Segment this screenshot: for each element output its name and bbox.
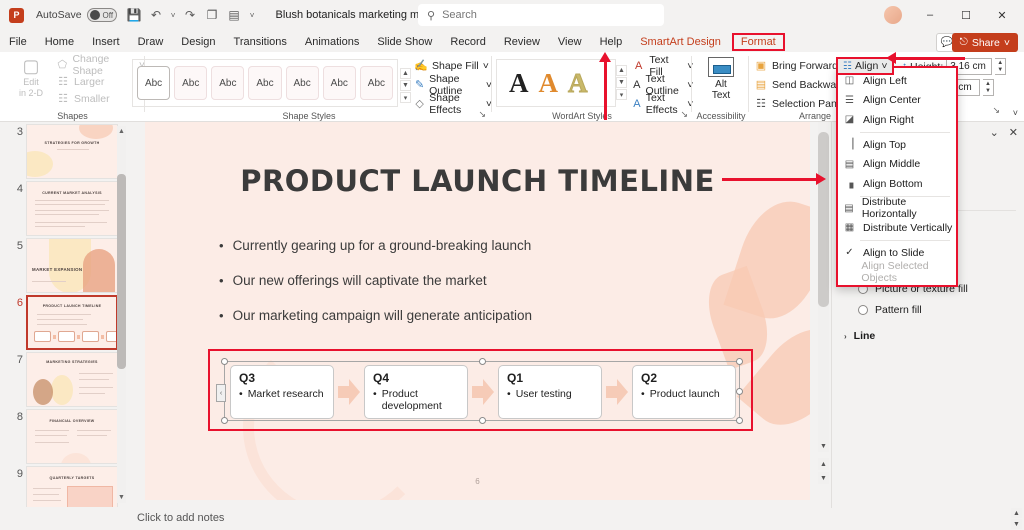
radio-icon[interactable] <box>858 305 868 315</box>
tab-insert[interactable]: Insert <box>83 34 129 50</box>
wordart-more-icon[interactable]: ▾ <box>616 89 627 100</box>
thumbnail-number: 9 <box>5 468 23 480</box>
thumbnail-title: MARKETING STRATEGIES <box>27 360 117 364</box>
menu-label: Align Middle <box>863 158 920 170</box>
fill-option-label: Pattern fill <box>875 304 922 316</box>
gallery-scroll-arrows: ▲ ▼ ▾ <box>400 68 411 103</box>
format-pane-line-section[interactable]: › Line <box>844 330 875 342</box>
align-selected-objects-icon <box>842 265 855 279</box>
window-controls: – ☐ ✕ <box>884 0 1020 30</box>
bullet-item: •Our new offerings will captivate the ma… <box>219 273 532 288</box>
shape-style-swatch[interactable]: Abc <box>137 66 170 100</box>
shape-styles-dialog-launcher[interactable]: ↘ <box>478 109 486 120</box>
tab-file[interactable]: File <box>0 34 36 50</box>
thumbnail-slide-7[interactable]: MARKETING STRATEGIES <box>26 352 118 407</box>
width-stepper-down-icon[interactable]: ▼ <box>983 88 993 96</box>
chevron-down-icon: ˅ <box>881 60 887 72</box>
bullet-text: Our marketing campaign will generate ant… <box>233 308 532 323</box>
menu-item-align-middle[interactable]: ▤Align Middle <box>838 154 956 174</box>
wordart-sample[interactable]: A <box>539 68 559 99</box>
thumbnail-slide-9[interactable]: QUARTERLY TARGETS <box>26 466 118 507</box>
smaller-label: Smaller <box>74 93 110 105</box>
notes-scroll-down-icon[interactable]: ▼ <box>1011 519 1022 529</box>
shape-fill-icon: ✍ <box>414 59 428 73</box>
alt-text-button[interactable]: Alt Text <box>698 57 744 101</box>
edit-2d-label-2: in 2-D <box>8 88 54 99</box>
menu-separator <box>860 132 950 133</box>
bullet-icon: • <box>239 388 243 400</box>
thumbnail-title: PRODUCT LAUNCH TIMELINE <box>28 304 116 308</box>
shape-style-swatch[interactable]: Abc <box>323 66 356 100</box>
shape-styles-group-label: Shape Styles <box>126 111 492 121</box>
restore-button[interactable]: ☐ <box>948 1 984 29</box>
scrollbar-thumb[interactable] <box>818 132 829 307</box>
shape-style-swatch[interactable]: Abc <box>360 66 393 100</box>
menu-item-align-selected-objects: Align Selected Objects <box>838 262 956 282</box>
format-pane-header-controls: ⌄ ✕ <box>990 126 1018 139</box>
shapes-group-label: Shapes <box>0 111 145 121</box>
wordart-scroll-down-icon[interactable]: ▼ <box>616 77 627 88</box>
share-button[interactable]: ⎋ Share ˅ <box>952 33 1018 52</box>
shape-style-swatch[interactable]: Abc <box>248 66 281 100</box>
align-bottom-icon: ▗ <box>842 177 857 191</box>
notes-pane[interactable]: Click to add notes ▲ ▼ <box>131 508 1024 530</box>
shape-style-swatch[interactable]: Abc <box>211 66 244 100</box>
shape-styles-gallery[interactable]: Abc Abc Abc Abc Abc Abc Abc ▲ ▼ ▾ <box>132 59 398 107</box>
menu-label: Align Right <box>863 114 914 126</box>
smartart-node-quarter: Q3 <box>239 371 325 385</box>
accessibility-group-label: Accessibility <box>693 111 749 121</box>
change-shape-icon: ⬠ <box>56 58 68 72</box>
wordart-sample[interactable]: A <box>509 68 529 99</box>
thumbnail-slide-5[interactable]: MARKET EXPANSION <box>26 238 118 293</box>
thumbnail-scrollbar[interactable]: ▲ ▼ <box>117 126 126 503</box>
minimize-button[interactable]: – <box>912 1 948 29</box>
width-stepper-up-icon[interactable]: ▲ <box>983 80 993 88</box>
smartart-arrow-icon <box>338 378 360 406</box>
ribbon-group-shapes: ▢ Edit in 2-D ⬠ Change Shape ˅ ☷ Larger … <box>0 52 145 122</box>
smartart-selection-highlight: ‹ Q3 •Market research Q4 •Product develo… <box>208 349 753 431</box>
chevron-down-icon: ˅ <box>483 60 489 72</box>
smartart-arrow-icon <box>606 378 628 406</box>
notes-scrollbar[interactable]: ▲ ▼ <box>1011 508 1022 530</box>
selection-pane-label: Selection Pane <box>772 98 843 110</box>
smartart-node-text: User testing <box>516 388 572 400</box>
notes-placeholder[interactable]: Click to add notes <box>137 512 224 524</box>
share-caret-icon: ˅ <box>1004 37 1010 49</box>
menu-label: Align Selected Objects <box>861 260 956 284</box>
bullet-icon: • <box>641 388 645 400</box>
thumbnail-slide-3[interactable]: STRATEGIES FOR GROWTH <box>26 124 118 179</box>
thumbnail-number: 7 <box>5 354 23 366</box>
slide-canvas[interactable]: PRODUCT LAUNCH TIMELINE •Currently geari… <box>145 122 810 500</box>
menu-item-distribute-vertically[interactable]: ▦Distribute Vertically <box>838 218 956 238</box>
gallery-scroll-up-icon[interactable]: ▲ <box>400 68 411 79</box>
tab-help[interactable]: Help <box>591 34 632 50</box>
customize-qat-icon[interactable]: ˅ <box>247 6 258 25</box>
search-icon: ⚲ <box>427 9 435 22</box>
tab-design[interactable]: Design <box>172 34 224 50</box>
shape-effects-icon: ◇ <box>414 97 425 111</box>
resize-handle-bottom-left[interactable] <box>221 417 228 424</box>
smartart-node-text: Market research <box>248 388 324 400</box>
height-stepper-up-icon[interactable]: ▲ <box>995 59 1005 67</box>
scroll-down-icon[interactable]: ▼ <box>818 440 829 452</box>
resize-handle-top-center[interactable] <box>479 358 486 365</box>
tab-home[interactable]: Home <box>36 34 83 50</box>
gallery-more-icon[interactable]: ▾ <box>400 92 411 103</box>
bullet-item: •Currently gearing up for a ground-break… <box>219 238 532 253</box>
close-button[interactable]: ✕ <box>984 1 1020 29</box>
align-icon: ☷ <box>843 61 852 72</box>
tab-draw[interactable]: Draw <box>129 34 173 50</box>
align-button[interactable]: ☷ Align ˅ <box>836 57 894 75</box>
text-effects-icon: A <box>632 97 642 111</box>
shape-outline-icon: ✎ <box>414 78 425 92</box>
smartart-steps: Q3 •Market research Q4 •Product developm… <box>230 365 736 419</box>
menu-item-distribute-horizontally[interactable]: ▤Distribute Horizontally <box>838 199 956 219</box>
shape-fill-label: Shape Fill <box>432 60 479 72</box>
shape-fill-commands: ✍ Shape Fill ˅ ✎ Shape Outline ˅ ◇ Shape… <box>414 56 492 113</box>
bullet-icon: • <box>219 238 224 253</box>
bullet-icon: • <box>507 388 511 400</box>
align-button-label: Align <box>855 60 878 72</box>
edit-2d-icon: ▢ <box>8 56 54 77</box>
distribute-horizontally-icon: ▤ <box>842 201 856 215</box>
smaller-icon: ☷ <box>56 92 70 106</box>
tab-smartart-design[interactable]: SmartArt Design <box>631 34 730 50</box>
text-outline-icon: A <box>632 78 642 92</box>
thumbnail-title: CURRENT MARKET ANALYSIS <box>27 191 117 195</box>
slide-canvas-area: PRODUCT LAUNCH TIMELINE •Currently geari… <box>131 122 831 508</box>
autosave-toggle[interactable]: Off <box>87 8 117 22</box>
smartart-node-quarter: Q4 <box>373 371 459 385</box>
smartart-node[interactable]: Q3 •Market research <box>230 365 334 419</box>
ribbon-group-wordart-styles: A A A ▲ ▼ ▾ A Text Fill ˅ A Text Outline… <box>492 52 692 122</box>
width-stepper[interactable]: ▲▼ <box>983 79 994 96</box>
align-dropdown-menu: ◫Align Left ☰Align Center ◪Align Right ▕… <box>836 66 958 287</box>
smartart-node[interactable]: Q1 •User testing <box>498 365 602 419</box>
autosave-state: Off <box>103 11 114 20</box>
redo-icon[interactable]: ↷ <box>181 6 200 25</box>
ribbon-group-shape-styles: Abc Abc Abc Abc Abc Abc Abc ▲ ▼ ▾ ✍ Shap… <box>126 52 492 122</box>
smartart-node-quarter: Q2 <box>641 371 727 385</box>
bullet-text: Currently gearing up for a ground-breaki… <box>233 238 532 253</box>
tab-transitions[interactable]: Transitions <box>225 34 296 50</box>
wordart-commands: A Text Fill ˅ A Text Outline ˅ A Text Ef… <box>632 56 693 113</box>
smartart-node-item: •Product launch <box>641 388 727 400</box>
align-top-icon: ▕ <box>842 138 857 152</box>
alt-text-label-2: Text <box>698 90 744 101</box>
slide-thumbnail-pane[interactable]: 3 STRATEGIES FOR GROWTH 4 CURRENT MARKET… <box>0 122 130 507</box>
bullet-icon: • <box>219 273 224 288</box>
thumbnail-title: MARKET EXPANSION <box>32 267 117 272</box>
resize-handle-middle-right[interactable] <box>736 388 743 395</box>
align-center-icon: ☰ <box>842 93 857 107</box>
align-middle-icon: ▤ <box>842 157 857 171</box>
smartart-node-quarter: Q1 <box>507 371 593 385</box>
thumbnail-title: STRATEGIES FOR GROWTH <box>27 141 117 145</box>
menu-label: Align Left <box>863 75 907 87</box>
bullet-icon: • <box>219 308 224 323</box>
search-box[interactable]: ⚲ Search <box>418 4 664 26</box>
tab-record[interactable]: Record <box>441 34 494 50</box>
chevron-right-icon[interactable]: › <box>844 332 847 341</box>
align-right-icon: ◪ <box>842 113 857 127</box>
menu-separator <box>860 240 950 241</box>
powerpoint-logo-icon: P <box>9 8 24 23</box>
distribute-vertically-icon: ▦ <box>842 221 857 235</box>
menu-item-align-right[interactable]: ◪Align Right <box>838 110 956 130</box>
undo-dropdown-icon[interactable]: ˅ <box>169 6 178 25</box>
gallery-scroll-down-icon[interactable]: ▼ <box>400 80 411 91</box>
close-icon[interactable]: ✕ <box>1009 126 1018 139</box>
ribbon-group-accessibility: Alt Text Accessibility <box>693 52 749 122</box>
slide-page-number: 6 <box>145 477 810 486</box>
menu-label: Align to Slide <box>863 247 924 259</box>
menu-item-align-top[interactable]: ▕Align Top <box>838 135 956 155</box>
tab-slide-show[interactable]: Slide Show <box>368 34 441 50</box>
present-icon[interactable]: ▤ <box>225 6 244 25</box>
edit-in-2d-button[interactable]: ▢ Edit in 2-D <box>8 56 54 99</box>
share-icon: ⎋ <box>960 36 968 49</box>
wordart-scroll-up-icon[interactable]: ▲ <box>616 65 627 76</box>
ribbon-collapse-icon[interactable]: ˅ <box>1013 108 1018 118</box>
shape-style-swatch[interactable]: Abc <box>286 66 319 100</box>
start-from-beginning-icon[interactable]: ❐ <box>203 6 222 25</box>
tab-format[interactable]: Format <box>732 33 785 51</box>
wordart-group-label: WordArt Styles <box>492 111 672 121</box>
powerpoint-window: P AutoSave Off 💾 ↶ ˅ ↷ ❐ ▤ ˅ Blush botan… <box>0 0 1024 530</box>
align-left-icon: ◫ <box>842 74 857 88</box>
smartart-node-item: •Product development <box>373 388 459 412</box>
edit-2d-label-1: Edit <box>8 77 54 88</box>
menu-label: Distribute Vertically <box>863 222 952 234</box>
resize-handle-top-right[interactable] <box>736 358 743 365</box>
menu-item-align-bottom[interactable]: ▗Align Bottom <box>838 174 956 194</box>
smartart-node-text: Product development <box>382 388 459 412</box>
avatar[interactable] <box>884 6 902 24</box>
wordart-dialog-launcher[interactable]: ↘ <box>680 109 688 120</box>
thumbnail-scroll-thumb[interactable] <box>117 174 126 369</box>
larger-icon: ☷ <box>56 75 70 89</box>
resize-handle-bottom-right[interactable] <box>736 417 743 424</box>
smartart-node-item: •Market research <box>239 388 325 400</box>
quick-access-toolbar: 💾 ↶ ˅ ↷ ❐ ▤ ˅ <box>125 6 258 25</box>
thumbnail-number: 4 <box>5 183 23 195</box>
search-placeholder: Search <box>442 9 477 21</box>
alt-text-icon <box>708 57 734 77</box>
tab-review[interactable]: Review <box>495 34 549 50</box>
bring-forward-label: Bring Forward <box>772 60 838 72</box>
alt-text-label-1: Alt <box>698 79 744 90</box>
thumbnail-number: 6 <box>5 297 23 309</box>
chevron-down-icon[interactable]: ⌄ <box>990 126 999 139</box>
menu-label: Distribute Horizontally <box>862 196 956 220</box>
previous-slide-icon[interactable]: ▲ <box>818 458 829 470</box>
thumbnail-number: 5 <box>5 240 23 252</box>
menu-label: Align Bottom <box>863 178 923 190</box>
send-backward-icon: ▤ <box>754 78 768 92</box>
bullet-item: •Our marketing campaign will generate an… <box>219 308 532 323</box>
bullet-icon: • <box>373 388 377 412</box>
save-icon[interactable]: 💾 <box>125 6 144 25</box>
thumbnail-scroll-down-icon[interactable]: ▼ <box>117 492 126 503</box>
size-dialog-launcher[interactable]: ↘ <box>992 105 1000 116</box>
larger-label: Larger <box>74 76 104 88</box>
slide-vertical-scrollbar[interactable]: ▼ ▲ ▼ <box>818 122 829 508</box>
wordart-gallery[interactable]: A A A <box>496 59 616 107</box>
wordart-sample[interactable]: A <box>568 68 588 99</box>
smartart-node-text: Product launch <box>650 388 720 400</box>
tab-view[interactable]: View <box>549 34 591 50</box>
menu-label: Align Top <box>863 139 906 151</box>
autosave-label: AutoSave <box>36 9 82 21</box>
thumbnail-number: 3 <box>5 126 23 138</box>
thumbnail-number: 8 <box>5 411 23 423</box>
ribbon-tabs: File Home Insert Draw Design Transitions… <box>0 32 1024 52</box>
tab-animations[interactable]: Animations <box>296 34 368 50</box>
thumbnail-scroll-up-icon[interactable]: ▲ <box>117 126 126 137</box>
thumbnail-slide-6[interactable]: PRODUCT LAUNCH TIMELINE <box>26 295 118 350</box>
send-backward-label: Send Backward <box>772 79 846 91</box>
smartart-node[interactable]: Q4 •Product development <box>364 365 468 419</box>
thumbnail-slide-4[interactable]: CURRENT MARKET ANALYSIS <box>26 181 118 236</box>
thumbnail-item[interactable]: 9 QUARTERLY TARGETS <box>0 464 130 507</box>
slide-title[interactable]: PRODUCT LAUNCH TIMELINE <box>145 164 810 198</box>
notes-scroll-up-icon[interactable]: ▲ <box>1011 508 1022 518</box>
bullet-text: Our new offerings will captivate the mar… <box>233 273 487 288</box>
slide-body-placeholder[interactable]: •Currently gearing up for a ground-break… <box>219 238 532 343</box>
thumbnail-title: FINANCIAL OVERVIEW <box>27 419 117 423</box>
menu-item-align-center[interactable]: ☰Align Center <box>838 91 956 111</box>
smartart-node[interactable]: Q2 •Product launch <box>632 365 736 419</box>
next-slide-icon[interactable]: ▼ <box>818 472 829 484</box>
fill-option-pattern[interactable]: Pattern fill <box>858 304 922 316</box>
text-fill-icon: A <box>632 59 645 73</box>
resize-handle-top-left[interactable] <box>221 358 228 365</box>
smartart-node-item: •User testing <box>507 388 593 400</box>
shape-style-swatch[interactable]: Abc <box>174 66 207 100</box>
thumbnail-slide-8[interactable]: FINANCIAL OVERVIEW <box>26 409 118 464</box>
smartart-text-pane-toggle[interactable]: ‹ <box>216 384 226 402</box>
share-label: Share <box>972 37 1000 49</box>
checkmark-icon: ✓ <box>842 246 857 260</box>
selection-pane-icon: ☷ <box>754 97 768 111</box>
menu-label: Align Center <box>863 94 921 106</box>
undo-icon[interactable]: ↶ <box>147 6 166 25</box>
bring-forward-icon: ▣ <box>754 59 768 73</box>
height-stepper[interactable]: ▲▼ <box>995 58 1006 75</box>
autosave-knob <box>90 10 100 20</box>
smartart-arrow-icon <box>472 378 494 406</box>
thumbnail-title: QUARTERLY TARGETS <box>27 476 117 480</box>
height-stepper-down-icon[interactable]: ▼ <box>995 67 1005 75</box>
line-section-label: Line <box>854 330 876 342</box>
